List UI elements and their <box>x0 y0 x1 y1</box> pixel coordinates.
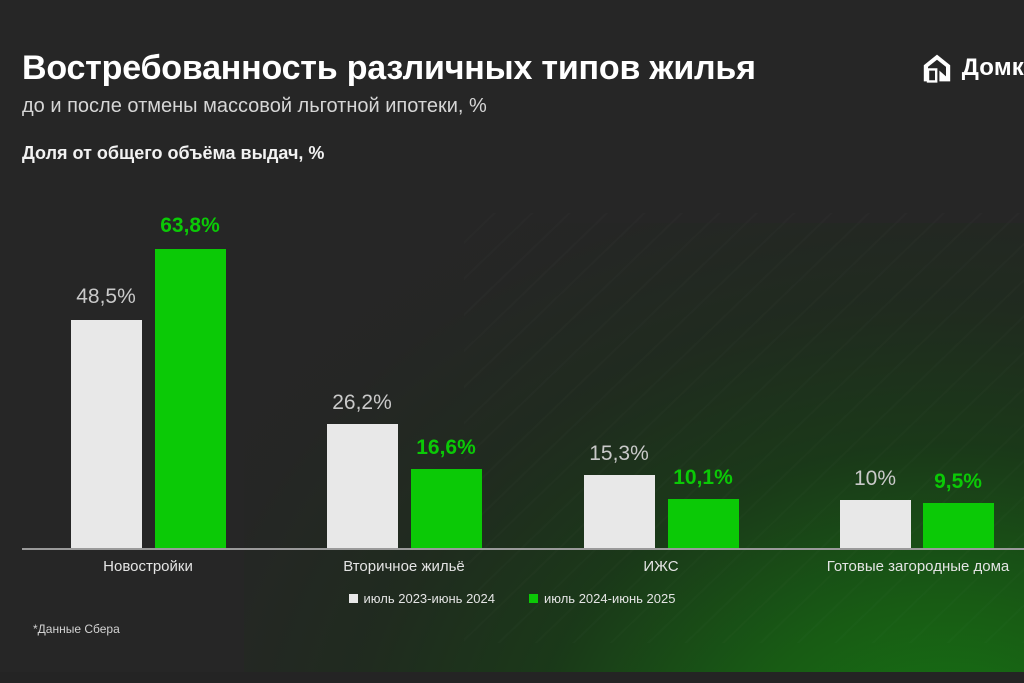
legend-swatch-curr-icon <box>529 594 538 603</box>
legend-swatch-prev-icon <box>349 594 358 603</box>
brand-logo: Домк <box>921 52 1024 84</box>
value-axis-caption: Доля от общего объёма выдач, % <box>22 143 324 164</box>
source-footnote: *Данные Сбера <box>33 622 120 636</box>
chart-canvas: Востребованность различных типов жилья д… <box>0 0 1024 683</box>
legend-label-curr: июль 2024-июнь 2025 <box>544 591 675 606</box>
page-title: Востребованность различных типов жилья <box>22 48 902 88</box>
page-subtitle: до и после отмены массовой льготной ипот… <box>22 93 902 119</box>
legend-label-prev: июль 2023-июнь 2024 <box>364 591 495 606</box>
brand-logo-text: Домк <box>962 56 1024 80</box>
chart-header: Востребованность различных типов жилья д… <box>22 48 902 119</box>
legend-item-curr[interactable]: июль 2024-июнь 2025 <box>529 591 675 606</box>
bottom-letterbox <box>0 672 1024 683</box>
legend-item-prev[interactable]: июль 2023-июнь 2024 <box>349 591 495 606</box>
house-logo-icon <box>921 52 953 84</box>
chart-legend: июль 2023-июнь 2024 июль 2024-июнь 2025 <box>0 591 1024 606</box>
